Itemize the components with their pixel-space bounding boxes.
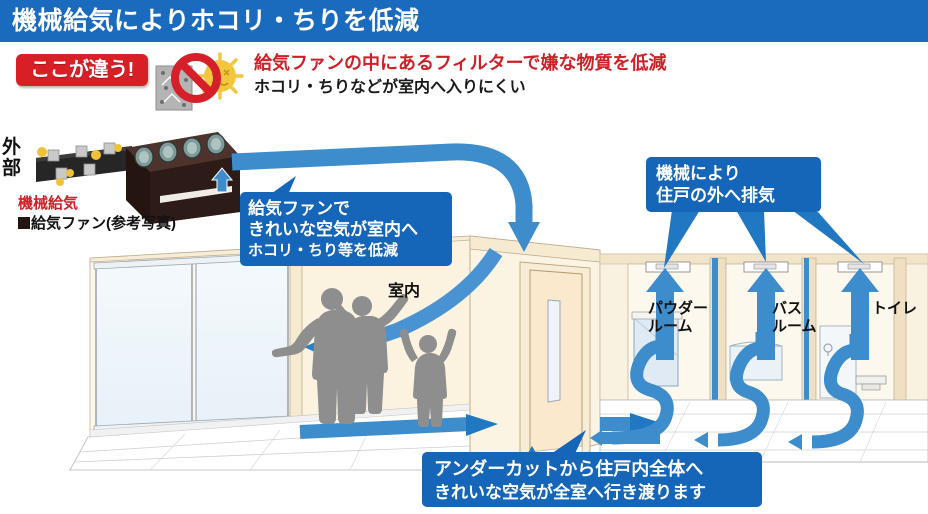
fan-duct-ports xyxy=(135,134,225,167)
mechanical-supply-label: 機械給気 xyxy=(18,192,78,213)
filter-blocking-graphic xyxy=(150,50,250,112)
diagram-page: 機械給気によりホコリ・ちりを低減 ここが違う! xyxy=(0,0,928,514)
room-label-powder-line2: ルーム xyxy=(648,318,693,335)
room-label-powder: パウダー ルーム xyxy=(648,300,708,336)
room-label-bath-line2: ルーム xyxy=(772,318,817,335)
callout-undercut-line1: アンダーカットから住戸内全体へ xyxy=(434,457,762,481)
highlight-badge-label: ここが違う! xyxy=(16,54,148,86)
indoor-label: 室内 xyxy=(388,277,420,301)
callout-supply-line1: 給気ファンで xyxy=(248,198,452,219)
room-label-powder-line1: パウダー xyxy=(648,300,708,317)
callout-exhaust-line2: 住戸の外へ排気 xyxy=(656,185,821,207)
exhaust-callout-spikes xyxy=(664,210,864,268)
fan-caption: 給気ファン(参考写真) xyxy=(18,212,176,233)
callout-supply-line2: きれいな空気が室内へ xyxy=(248,219,452,240)
room-label-toilet: トイレ xyxy=(872,300,917,318)
room-distribution-arrow xyxy=(304,252,496,362)
intro-subline: ホコリ・ちりなどが室内へ入りにくい xyxy=(254,78,526,98)
s-curve-arrow-toilet xyxy=(788,334,857,450)
room-label-bath-line1: バス xyxy=(772,300,802,317)
pollen-allergen-icon xyxy=(37,144,122,186)
room-label-bath: バス ルーム xyxy=(772,300,817,336)
fan-caption-text: 給気ファン(参考写真) xyxy=(31,215,176,232)
callout-undercut-line2: きれいな空気が全室へ行き渡ります xyxy=(434,481,762,505)
s-curve-arrow-powder xyxy=(612,330,667,438)
silhouette-child xyxy=(400,329,456,427)
callout-exhaust: 機械により 住戸の外へ排気 xyxy=(646,157,821,212)
callout-supply-line3: ホコリ・ちり等を低減 xyxy=(248,240,452,261)
corridor-floor-arrow-tail xyxy=(590,430,660,446)
silhouette-adult-male xyxy=(272,288,369,424)
dust-particles-icon xyxy=(48,143,115,179)
page-title: 機械給気によりホコリ・ちりを低減 xyxy=(12,4,420,38)
s-curve-arrow-bath xyxy=(694,332,763,448)
intro-headline: 給気ファンの中にあるフィルターで嫌な物質を低減 xyxy=(254,52,667,74)
room-label-toilet-line1: トイレ xyxy=(872,300,917,317)
floor-spread-arrow-left xyxy=(300,414,498,436)
silhouette-adult-female xyxy=(329,294,409,414)
callout-exhaust-line1: 機械により xyxy=(656,163,821,185)
corridor-floor-arrow xyxy=(600,413,664,435)
callout-undercut: アンダーカットから住戸内全体へ きれいな空気が全室へ行き渡ります xyxy=(422,452,762,507)
callout-supply-fan: 給気ファンで きれいな空気が室内へ ホコリ・ちり等を低減 xyxy=(240,192,452,266)
highlight-badge: ここが違う! xyxy=(16,54,148,86)
exterior-label: 外部 xyxy=(2,137,24,179)
bullet-square-icon xyxy=(18,217,30,229)
